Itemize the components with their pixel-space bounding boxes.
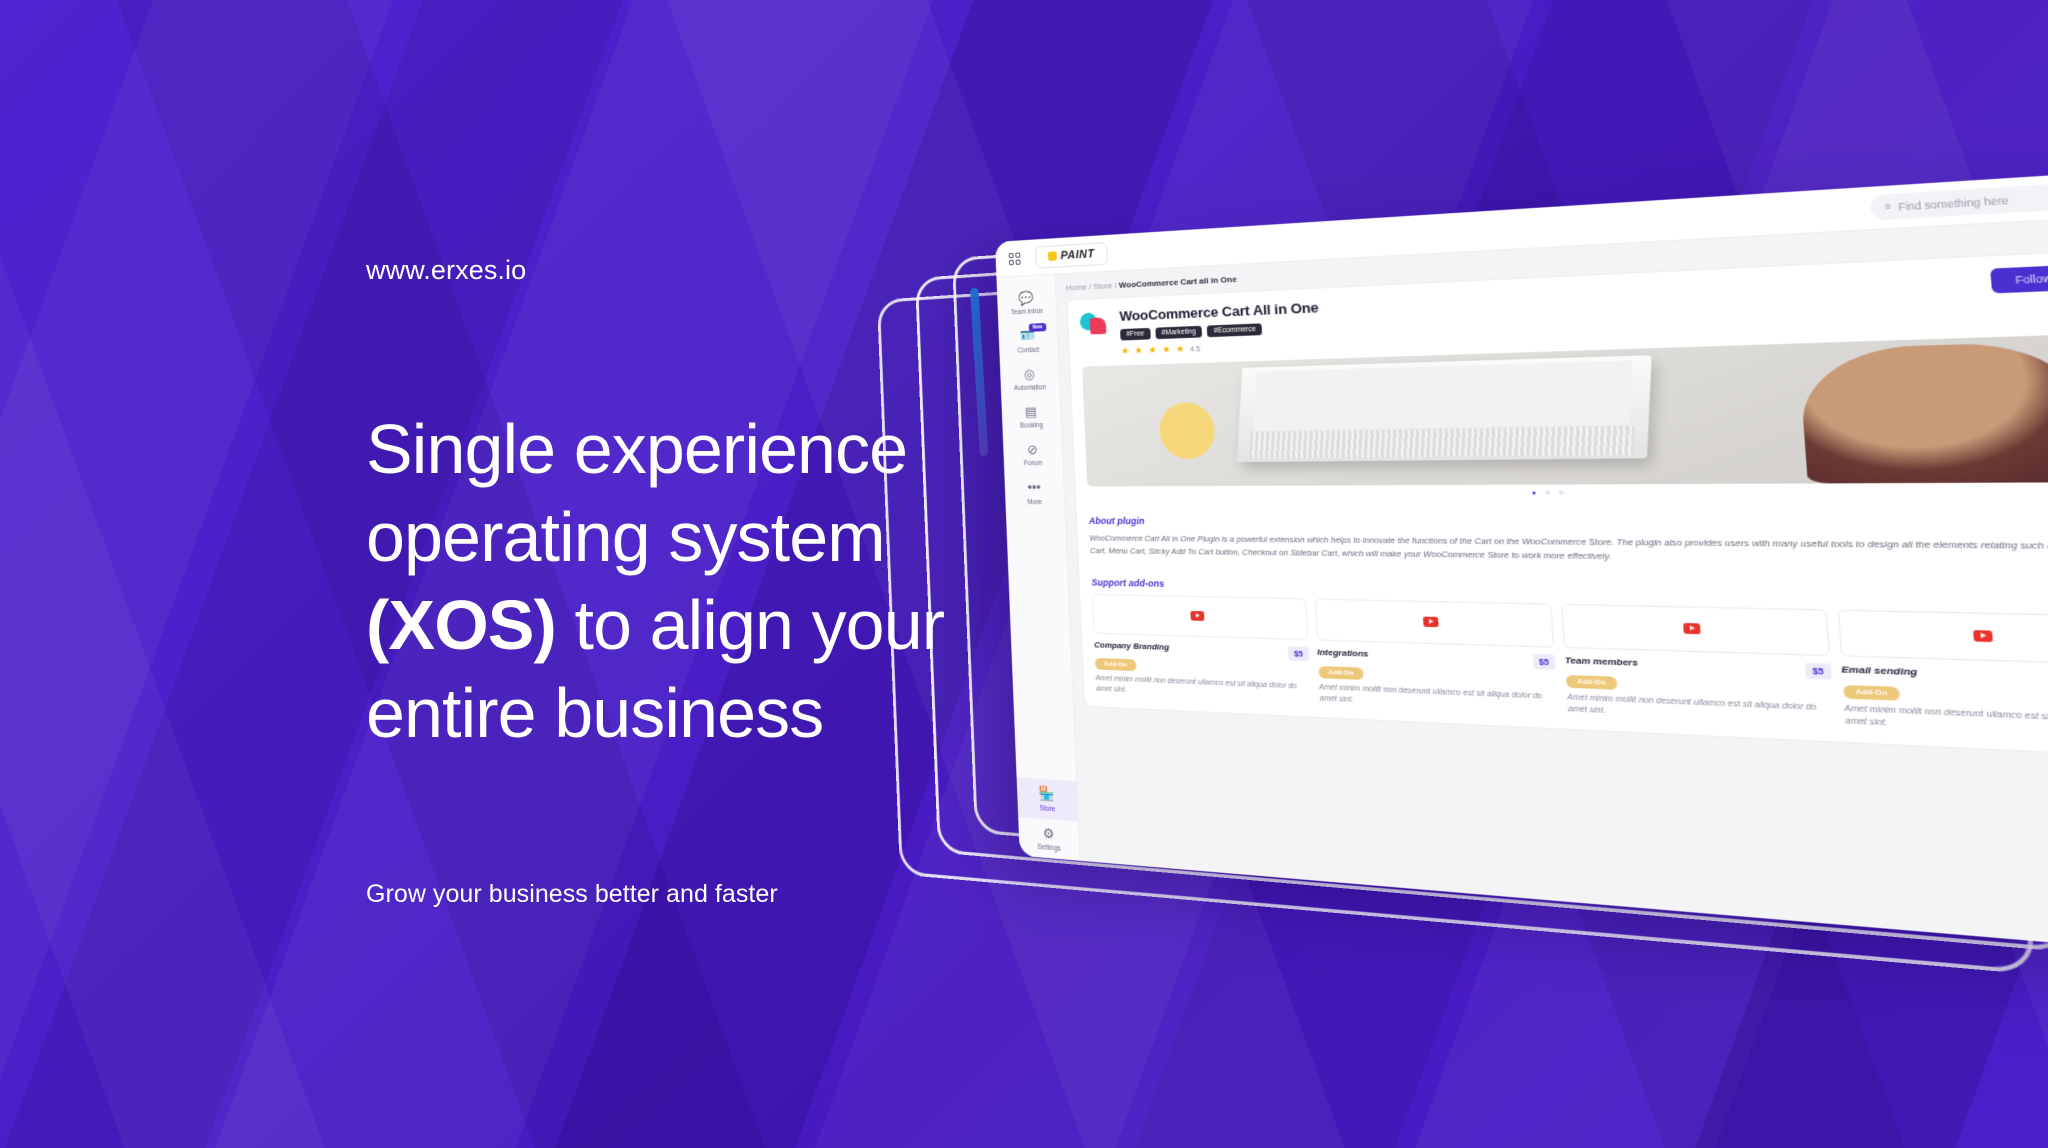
headline-xos: (XOS) [366, 586, 556, 664]
addon-thumbnail [1314, 598, 1554, 647]
breadcrumb-home[interactable]: Home [1066, 282, 1087, 292]
breadcrumb-store[interactable]: Store [1093, 281, 1112, 291]
plugin-detail-card: WooCommerce Cart All in One #Free #Marke… [1066, 249, 2048, 758]
addon-price: $5 [1288, 646, 1309, 661]
addon-badge: Add-On [1095, 657, 1137, 670]
rating-value: 4.5 [1190, 346, 1200, 354]
addon-price: $5 [1532, 653, 1555, 669]
youtube-icon [1683, 623, 1701, 634]
rating-stars: ★ ★ ★ ★ ★4.5 [1121, 338, 1321, 357]
addon-thumbnail [1561, 603, 1829, 655]
person-illustration [1798, 340, 2048, 483]
brand-label: PAINT [1060, 248, 1094, 262]
youtube-icon [1973, 630, 1993, 642]
plugin-meta: WooCommerce Cart All in One #Free #Marke… [1119, 299, 1321, 357]
search-icon: ⌕ [1884, 200, 1892, 214]
hero-copy: www.erxes.io Single experience operating… [366, 0, 1046, 1148]
addon-badge: Add-On [1318, 665, 1364, 679]
tag-chip[interactable]: #Marketing [1155, 326, 1202, 339]
plugin-tags: #Free #Marketing #Ecommerce [1120, 321, 1320, 341]
headline-line-3: to align your [556, 586, 944, 664]
plugin-logo-icon [1080, 309, 1111, 341]
app-main: Home / Store / WooCommerce Cart all in O… [1056, 216, 2048, 955]
youtube-icon [1190, 611, 1204, 621]
addon-badge: Add-On [1843, 684, 1901, 700]
addon-description: Amet minim mollit non deserunt ullamco e… [1319, 682, 1559, 716]
site-url: www.erxes.io [366, 255, 526, 286]
addon-header: Integrations $5 [1317, 647, 1556, 670]
hero-tagline: Grow your business better and faster [366, 880, 778, 909]
addon-card[interactable]: Email sending $5 Add-On Amet minim molli… [1837, 609, 2048, 742]
plugin-title: WooCommerce Cart All in One [1119, 299, 1319, 324]
breadcrumb-current: WooCommerce Cart all in One [1119, 274, 1237, 289]
headline-line-4: entire business [366, 674, 823, 752]
carousel-dot-active: ● ○ ○ [1532, 490, 1568, 497]
addon-description: Amet minim mollit non deserunt ullamco e… [1567, 692, 1835, 729]
brand-mark-icon [1048, 251, 1057, 261]
laptop-screen [1253, 361, 1632, 431]
workspace-brand-chip[interactable]: PAINT [1035, 242, 1108, 269]
addon-name: Company Branding [1094, 640, 1169, 652]
tag-chip[interactable]: #Free [1120, 328, 1150, 341]
laptop-illustration [1237, 355, 1651, 462]
carousel-dots[interactable]: ● ○ ○ [1076, 489, 2048, 498]
addon-card[interactable]: Integrations $5 Add-On Amet minim mollit… [1314, 598, 1558, 716]
addon-header: Company Branding $5 [1094, 640, 1309, 661]
headline-line-1: Single experience [366, 410, 907, 488]
addon-name: Email sending [1841, 663, 1918, 677]
addon-badge: Add-On [1566, 674, 1617, 689]
page-title: Single experience operating system (XOS)… [366, 405, 1026, 757]
slide-canvas: www.erxes.io Single experience operating… [0, 0, 2048, 1148]
addon-thumbnail [1092, 593, 1308, 639]
addons-list: Company Branding $5 Add-On Amet minim mo… [1080, 593, 2048, 756]
youtube-icon [1423, 617, 1439, 628]
follow-button[interactable]: Follow+17k [1990, 263, 2048, 293]
laptop-keyboard [1248, 425, 1634, 458]
search-input[interactable]: ⌕ Find something here [1870, 182, 2048, 221]
follow-label: Follow [2015, 272, 2048, 286]
addon-description: Amet minim mollit non deserunt ullamco e… [1095, 673, 1311, 705]
addon-name: Integrations [1317, 647, 1369, 659]
addon-card[interactable]: Company Branding $5 Add-On Amet minim mo… [1092, 593, 1311, 705]
headline-line-2: operating system [366, 498, 885, 576]
app-mockup: PAINT ⌕ Find something here Your plan Fr… [1040, 260, 2048, 960]
search-placeholder: Find something here [1898, 194, 2009, 213]
addon-price: $5 [1805, 662, 1831, 679]
app-window: PAINT ⌕ Find something here Your plan Fr… [995, 147, 2048, 988]
addon-card[interactable]: Team members $5 Add-On Amet minim mollit… [1561, 603, 1835, 728]
addon-description: Amet minim mollit non deserunt ullamco e… [1844, 703, 2048, 743]
addon-name: Team members [1564, 654, 1638, 667]
tag-chip[interactable]: #Ecommerce [1207, 323, 1262, 337]
stars-glyphs: ★ ★ ★ ★ ★ [1121, 343, 1186, 356]
addon-thumbnail [1837, 609, 2048, 665]
